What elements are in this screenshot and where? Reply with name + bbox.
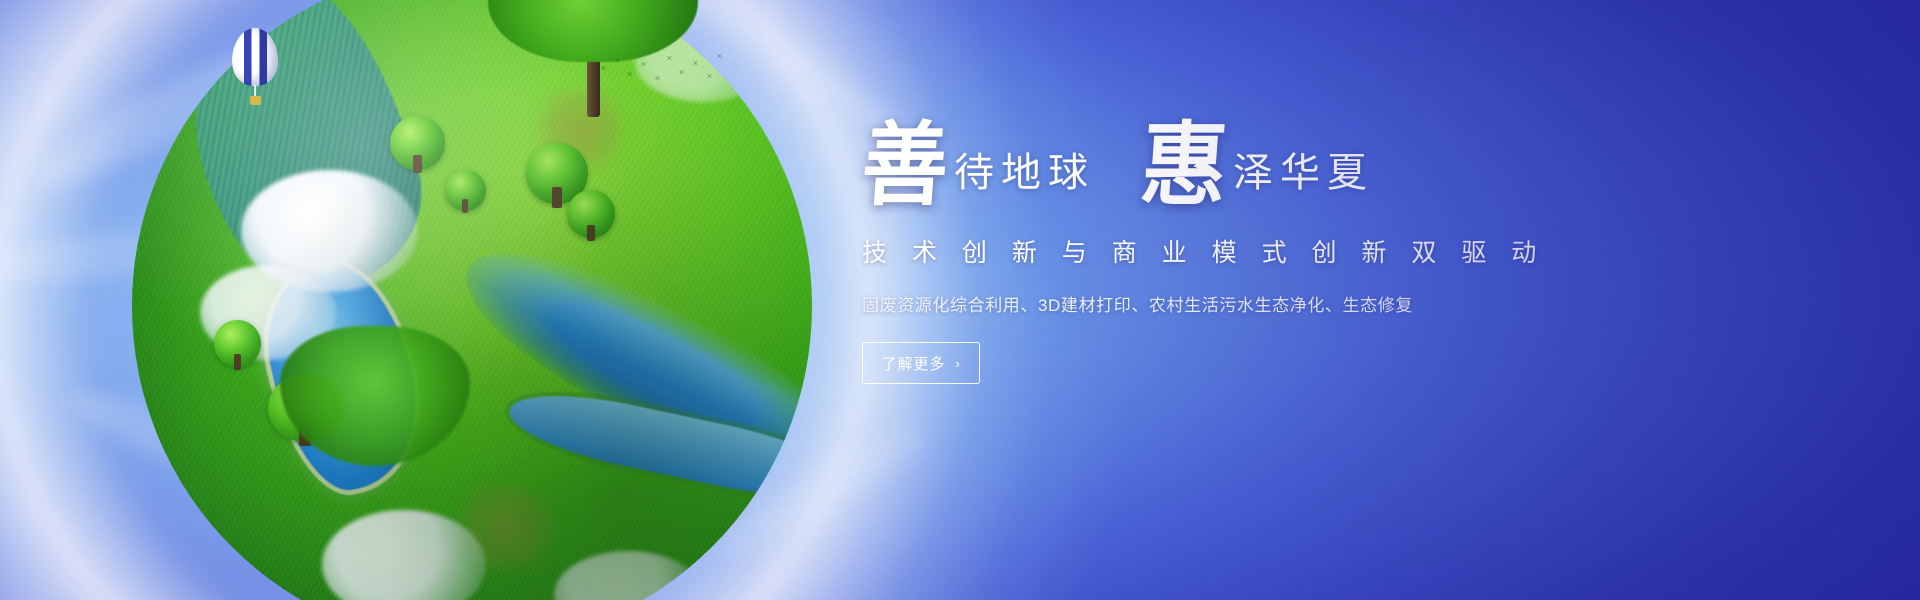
bird-icon <box>614 58 621 62</box>
hero-banner: 善 待地球 惠 泽华夏 技 术 创 新 与 商 业 模 式 创 新 双 驱 动 … <box>0 0 1920 600</box>
bird-icon <box>716 54 723 58</box>
subtitle: 技 术 创 新 与 商 业 模 式 创 新 双 驱 动 <box>862 233 1862 269</box>
bird-icon <box>626 72 633 76</box>
background-tree <box>280 326 470 466</box>
birds-flock <box>596 52 722 96</box>
chevron-right-icon: › <box>955 357 960 370</box>
headline-phrase-two: 惠 泽华夏 <box>1141 128 1374 205</box>
bird-icon <box>706 74 713 78</box>
bird-icon <box>654 76 661 80</box>
bird-icon <box>678 70 685 74</box>
balloon-envelope <box>232 28 278 86</box>
bird-icon <box>600 66 607 70</box>
learn-more-label: 了解更多 <box>881 353 945 374</box>
headline-phrase-one: 善 待地球 <box>862 128 1095 205</box>
headline: 善 待地球 惠 泽华夏 <box>862 128 1862 205</box>
bird-icon <box>692 61 699 65</box>
balloon-basket <box>250 96 261 105</box>
tree-crown <box>280 326 470 466</box>
learn-more-button[interactable]: 了解更多 › <box>862 342 980 384</box>
hero-content: 善 待地球 惠 泽华夏 技 术 创 新 与 商 业 模 式 创 新 双 驱 动 … <box>862 128 1862 384</box>
bird-icon <box>666 56 673 60</box>
headline-big-char-one: 善 <box>859 126 951 208</box>
headline-small-text-one: 待地球 <box>954 153 1095 205</box>
headline-small-text-two: 泽华夏 <box>1233 153 1374 205</box>
headline-big-char-two: 惠 <box>1138 126 1230 208</box>
description: 固废资源化综合利用、3D建材打印、农村生活污水生态净化、生态修复 <box>862 291 1862 316</box>
bird-icon <box>640 62 647 66</box>
hot-air-balloon-icon <box>232 28 278 110</box>
